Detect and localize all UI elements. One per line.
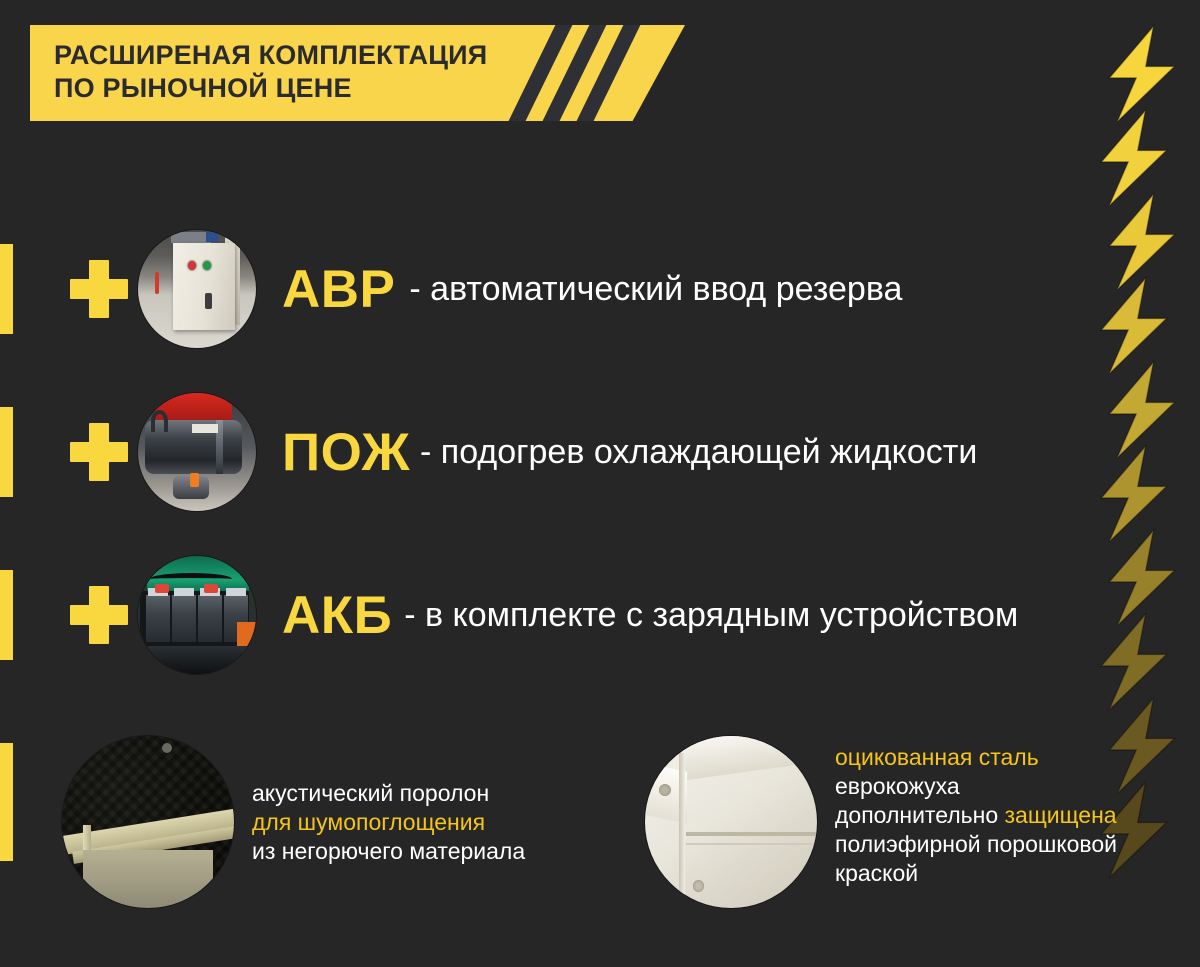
feature-description: - подогрев охлаждающей жидкости	[420, 434, 977, 470]
left-tab-1	[0, 244, 13, 334]
caption-line: акустический поролон	[252, 779, 525, 808]
plus-icon	[70, 260, 128, 318]
caption-text: дополнительно	[835, 802, 1005, 828]
left-tab-2	[0, 407, 13, 497]
caption-line-highlight: для шумопоглощения	[252, 808, 525, 837]
poj-coolant-heater-photo	[138, 393, 256, 511]
plus-icon	[70, 586, 128, 644]
caption-line-highlight: оцикованная сталь	[835, 743, 1117, 772]
header-banner: РАСШИРЕНАЯ КОМПЛЕКТАЦИЯ ПО РЫНОЧНОЙ ЦЕНЕ	[30, 25, 685, 121]
feature-row-avr: АВР - автоматический ввод резерва	[70, 230, 902, 348]
acoustic-foam-photo	[62, 736, 234, 908]
feature-description: - в комплекте с зарядным устройством	[404, 597, 1018, 633]
feature-row-poj: ПОЖ - подогрев охлаждающей жидкости	[70, 393, 977, 511]
plus-icon	[70, 423, 128, 481]
acoustic-foam-caption: акустический поролон для шумопоглощения …	[252, 779, 525, 866]
slide-canvas: РАСШИРЕНАЯ КОМПЛЕКТАЦИЯ ПО РЫНОЧНОЙ ЦЕНЕ…	[0, 0, 1200, 967]
caption-line-mixed: дополнительно защищена	[835, 801, 1117, 830]
caption-line: полиэфирной порошковой	[835, 830, 1117, 859]
avr-cabinet-photo	[138, 230, 256, 348]
banner-title: РАСШИРЕНАЯ КОМПЛЕКТАЦИЯ ПО РЫНОЧНОЙ ЦЕНЕ	[54, 39, 487, 105]
caption-text-highlight: защищена	[1005, 802, 1117, 828]
feature-description: - автоматический ввод резерва	[409, 271, 902, 307]
caption-line: из негорючего материала	[252, 837, 525, 866]
galvanized-steel-photo	[645, 736, 817, 908]
feature-acronym: АВР	[282, 263, 395, 316]
feature-row-akb: АКБ - в комплекте с зарядным устройством	[70, 556, 1018, 674]
caption-line: краской	[835, 859, 1117, 888]
bottom-block-acoustic-foam: акустический поролон для шумопоглощения …	[62, 736, 525, 908]
left-tab-3	[0, 570, 13, 660]
caption-line: еврокожуха	[835, 772, 1117, 801]
bottom-block-galvanized-steel: оцикованная сталь еврокожуха дополнитель…	[645, 736, 1117, 908]
left-tab-4	[0, 743, 13, 861]
feature-acronym: АКБ	[282, 589, 392, 642]
akb-batteries-photo	[138, 556, 256, 674]
feature-acronym: ПОЖ	[282, 426, 410, 479]
banner-stripes-decoration	[517, 25, 667, 121]
galvanized-steel-caption: оцикованная сталь еврокожуха дополнитель…	[835, 743, 1117, 888]
